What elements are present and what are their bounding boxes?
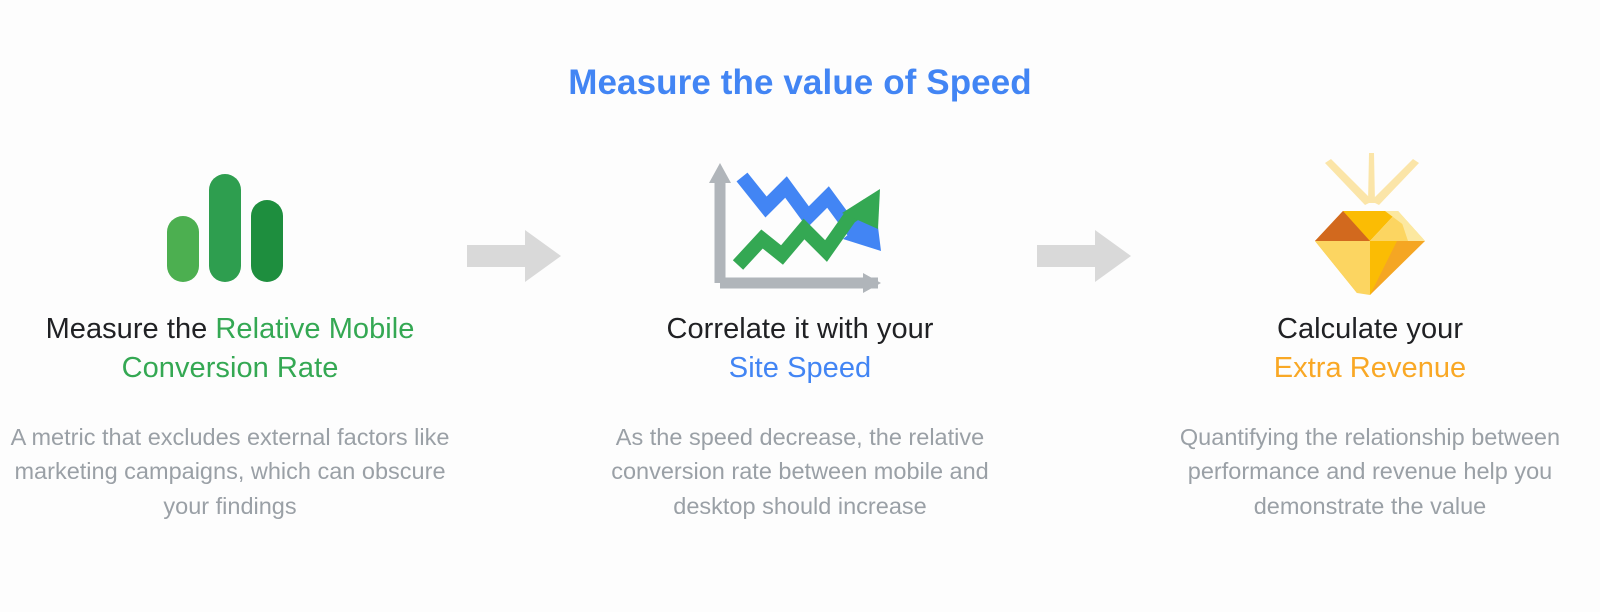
bar-chart-icon-container (0, 150, 460, 300)
step-body-2: As the speed decrease, the relative conv… (580, 420, 1020, 524)
bar-chart-icon (155, 160, 305, 290)
step-heading-2-plain: Correlate it with your (666, 313, 933, 345)
connector-2 (1030, 150, 1140, 284)
step-column-2: Correlate it with your Site Speed As the… (570, 150, 1030, 523)
step-heading-2-accent: Site Speed (729, 352, 871, 384)
right-arrow-icon (467, 228, 563, 284)
diamond-gem-icon-container (1140, 150, 1600, 300)
page-title: Measure the value of Speed (0, 62, 1600, 104)
step-heading-3-plain: Calculate your (1277, 313, 1463, 345)
step-column-1: Measure the Relative Mobile Conversion R… (0, 150, 460, 523)
sparkle-rays-icon (1325, 153, 1419, 205)
steps-row: Measure the Relative Mobile Conversion R… (0, 150, 1600, 523)
step-heading-1-plain: Measure the (46, 313, 216, 345)
right-arrow-icon (1037, 228, 1133, 284)
gem-body-icon (1315, 211, 1425, 295)
step-heading-3-accent: Extra Revenue (1274, 352, 1466, 384)
diamond-gem-icon (1295, 153, 1445, 298)
step-body-3: Quantifying the relationship between per… (1150, 420, 1590, 524)
step-heading-3: Calculate your Extra Revenue (1274, 310, 1466, 388)
step-body-1: A metric that excludes external factors … (10, 420, 450, 524)
trend-lines-chart-icon (700, 155, 900, 295)
connector-1 (460, 150, 570, 284)
step-heading-1: Measure the Relative Mobile Conversion R… (15, 310, 445, 388)
trend-lines-chart-icon-container (570, 150, 1030, 300)
infographic-root: Measure the value of Speed Measure the R… (0, 0, 1600, 612)
step-heading-2: Correlate it with your Site Speed (666, 310, 933, 388)
step-column-3: Calculate your Extra Revenue Quantifying… (1140, 150, 1600, 523)
